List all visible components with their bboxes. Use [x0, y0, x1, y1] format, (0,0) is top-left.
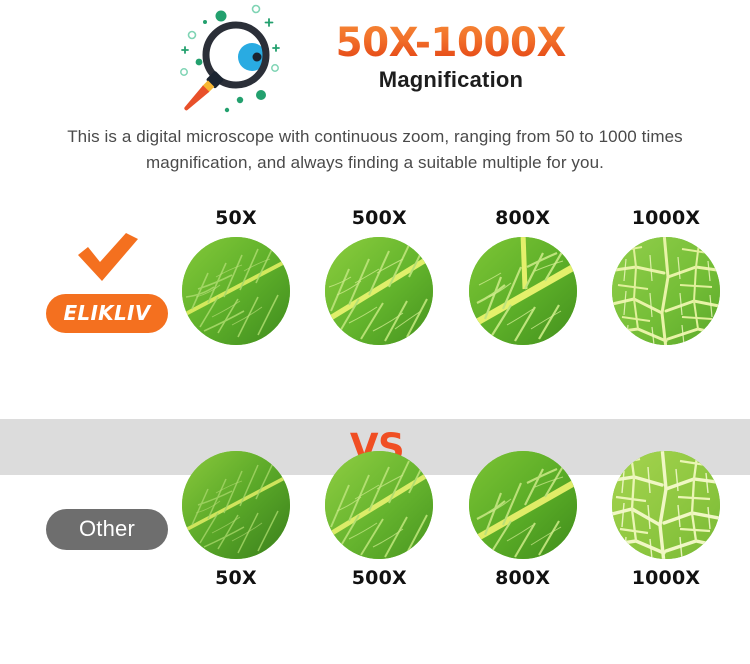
leaf-sample-image [182, 237, 290, 345]
leaf-sample-image [325, 451, 433, 559]
sample-item: 800X [467, 207, 579, 345]
other-comparison-row: Other 50X [0, 451, 750, 625]
sample-item: 50X [180, 451, 292, 589]
other-badge-cell: Other [42, 509, 172, 550]
brand-badge: ELIKLIV [46, 294, 168, 333]
header-inner: 50X-1000X Magnification [168, 0, 570, 118]
sample-item: 500X [323, 451, 435, 589]
brand-comparison-row: ELIKLIV 50X [0, 207, 750, 393]
magnifying-glass-icon [168, 0, 318, 118]
brand-sample-list: 50X [180, 207, 722, 345]
page-title: 50X-1000X [336, 22, 566, 64]
brand-badge-cell: ELIKLIV [42, 233, 172, 333]
leaf-sample-image [182, 451, 290, 559]
leaf-sample-image [469, 451, 577, 559]
sample-item: 50X [180, 207, 292, 345]
title-block: 50X-1000X Magnification [332, 22, 570, 97]
page-subtitle: Magnification [379, 67, 523, 93]
sample-label: 50X [215, 207, 257, 229]
sample-label: 1000X [632, 567, 701, 589]
leaf-sample-image [612, 237, 720, 345]
other-sample-list: 50X [180, 451, 722, 589]
sample-item: 1000X [610, 207, 722, 345]
sample-label: 50X [215, 567, 257, 589]
sample-item: 1000X [610, 451, 722, 589]
sample-item: 500X [323, 207, 435, 345]
header-banner: 50X-1000X Magnification [0, 0, 750, 118]
sample-item: 800X [467, 451, 579, 589]
description-text: This is a digital microscope with contin… [52, 124, 698, 177]
sample-label: 500X [352, 207, 407, 229]
sample-label: 1000X [632, 207, 701, 229]
leaf-sample-image [612, 451, 720, 559]
sample-label: 800X [495, 567, 550, 589]
orange-check-icon [72, 233, 142, 290]
leaf-sample-image [325, 237, 433, 345]
sample-label: 800X [495, 207, 550, 229]
sample-label: 500X [352, 567, 407, 589]
other-badge: Other [46, 509, 168, 550]
leaf-sample-image [469, 237, 577, 345]
